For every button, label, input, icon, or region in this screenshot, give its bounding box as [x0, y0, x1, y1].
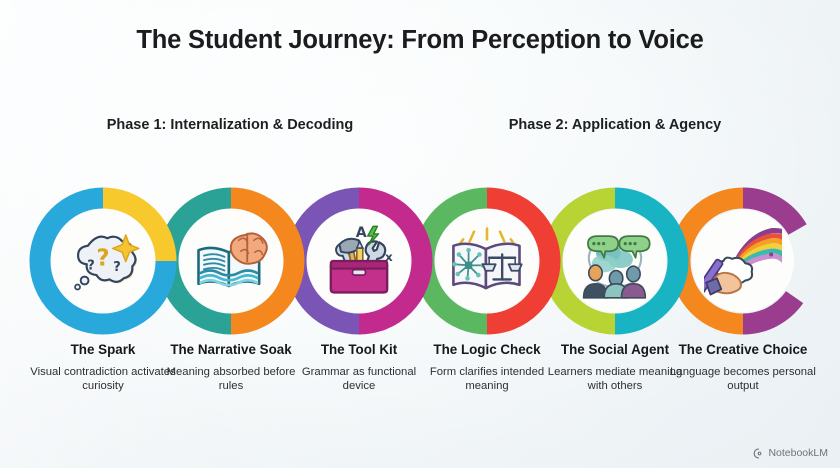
step-icon-container-1: ??? — [52, 210, 154, 312]
step-caption-6: The Creative ChoiceLanguage becomes pers… — [668, 342, 818, 394]
svg-text:x: x — [385, 250, 393, 264]
toolbox-icon: Ax — [320, 222, 398, 300]
step-icon-container-5 — [564, 210, 666, 312]
hand-writing-rainbow-icon — [704, 222, 782, 300]
infographic-canvas: The Student Journey: From Perception to … — [0, 0, 840, 468]
phase-2-header: Phase 2: Application & Agency — [385, 117, 840, 133]
step-icon-container-6 — [692, 210, 794, 312]
journey-ring-chain: ???Ax — [0, 186, 840, 336]
open-book-brain-icon — [192, 222, 270, 300]
step-description-6: Language becomes personal output — [668, 365, 818, 394]
journey-step-6[interactable] — [668, 186, 818, 336]
svg-text:?: ? — [87, 259, 95, 274]
step-title-6: The Creative Choice — [668, 342, 818, 358]
svg-text:?: ? — [113, 260, 121, 275]
journey-step-5[interactable] — [540, 186, 690, 336]
svg-text:?: ? — [96, 245, 109, 271]
page-title: The Student Journey: From Perception to … — [0, 26, 840, 55]
watermark-label: NotebookLM — [768, 447, 828, 459]
step-icon-container-4 — [436, 210, 538, 312]
notebooklm-logo-icon — [753, 448, 764, 459]
journey-step-2[interactable] — [156, 186, 306, 336]
journey-step-1[interactable]: ??? — [28, 186, 178, 336]
thought-bubble-question-marks-icon: ??? — [64, 222, 142, 300]
open-book-scales-icon — [448, 222, 526, 300]
step-icon-container-3: Ax — [308, 210, 410, 312]
svg-text:A: A — [356, 225, 367, 241]
people-network-speech-icon — [576, 222, 654, 300]
journey-step-4[interactable] — [412, 186, 562, 336]
step-icon-container-2 — [180, 210, 282, 312]
notebooklm-watermark: NotebookLM — [753, 447, 828, 459]
journey-step-3[interactable]: Ax — [284, 186, 434, 336]
